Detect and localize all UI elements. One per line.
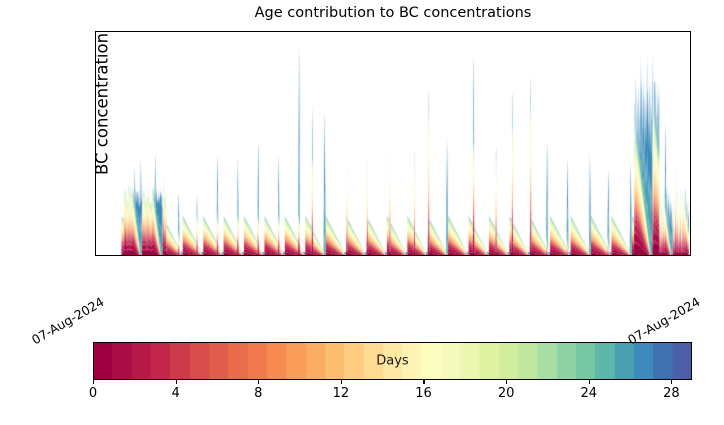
colorbar-tick-label: 20 <box>498 386 515 401</box>
colorbar-title: Days <box>93 354 692 369</box>
colorbar-tick-label: 12 <box>333 386 350 401</box>
colorbar-tick-mark <box>671 380 672 384</box>
colorbar-tick-mark <box>423 380 424 384</box>
colorbar-tick-mark <box>176 380 177 384</box>
y-tick-mark <box>95 178 96 179</box>
colorbar-tick-label: 16 <box>415 386 432 401</box>
colorbar-tick-mark <box>258 380 259 384</box>
colorbar-tick-mark <box>506 380 507 384</box>
plot-axes[interactable]: 050100150200250 BC concentration (ng m−3… <box>95 31 691 256</box>
colorbar-tick-label: 4 <box>171 386 179 401</box>
colorbar-tick-mark <box>341 380 342 384</box>
colorbar[interactable]: Days 0481216202428 <box>93 342 692 380</box>
colorbar-tick-label: 24 <box>580 386 597 401</box>
stacked-area-plot <box>96 32 691 256</box>
figure-canvas: Age contribution to BC concentrations 05… <box>0 0 724 425</box>
y-axis-label: BC concentration (ng m−3) <box>95 31 112 175</box>
colorbar-tick-label: 0 <box>89 386 97 401</box>
y-axis-label-prefix: BC concentration (ng m <box>95 31 112 175</box>
colorbar-tick-label: 8 <box>254 386 262 401</box>
colorbar-tick-label: 28 <box>663 386 680 401</box>
y-tick-mark <box>95 217 96 218</box>
colorbar-tick-mark <box>93 380 94 384</box>
colorbar-tick-mark <box>589 380 590 384</box>
page-title: Age contribution to BC concentrations <box>95 5 691 21</box>
